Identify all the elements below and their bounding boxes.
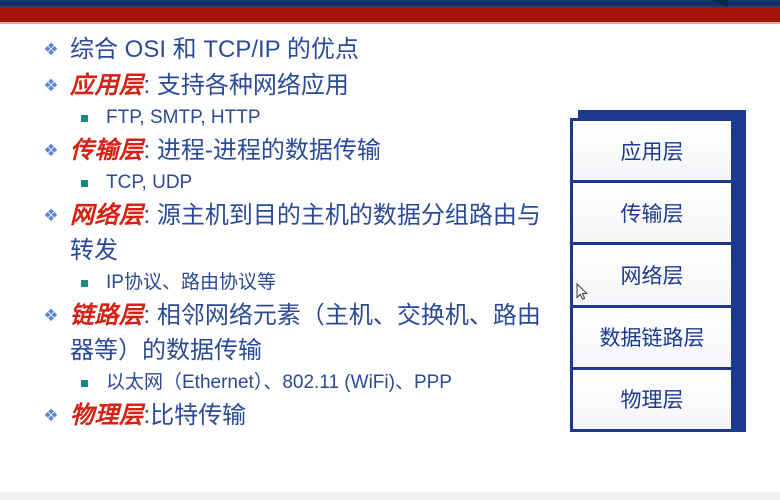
top-blue-band-highlight (0, 0, 780, 2)
top-band-notch (712, 0, 728, 7)
square-bullet-icon (81, 280, 88, 287)
stack-layer-application: 应用层 (573, 121, 731, 183)
slide-content: ❖综合 OSI 和 TCP/IP 的优点 ❖应用层: 支持各种网络应用 FTP,… (0, 26, 780, 500)
list-item: TCP, UDP (34, 169, 544, 197)
diamond-bullet-icon: ❖ (40, 298, 62, 333)
stack-layer-network: 网络层 (573, 245, 731, 307)
top-red-band (0, 7, 780, 22)
list-item-text: 以太网（Ethernet）、802.11 (WiFi)、PPP (106, 372, 452, 393)
list-item-text: : 支持各种网络应用 (144, 72, 349, 99)
list-item: 以太网（Ethernet）、802.11 (WiFi)、PPP (34, 369, 544, 397)
bottom-band (0, 492, 780, 500)
list-item-text: TCP, UDP (106, 172, 192, 193)
square-bullet-icon (81, 380, 88, 387)
list-item: ❖应用层: 支持各种网络应用 (34, 68, 544, 103)
layer-name: 应用层 (70, 72, 144, 99)
stack-layer-datalink: 数据链路层 (573, 308, 731, 370)
list-item: ❖链路层: 相邻网络元素（主机、交换机、路由器等）的数据传输 (34, 298, 544, 368)
list-item-text: IP协议、路由协议等 (106, 272, 276, 293)
list-item-text: 综合 OSI 和 TCP/IP 的优点 (70, 36, 359, 63)
list-item-text: :比特传输 (144, 402, 247, 429)
bullet-list: ❖综合 OSI 和 TCP/IP 的优点 ❖应用层: 支持各种网络应用 FTP,… (34, 32, 544, 434)
diamond-bullet-icon: ❖ (40, 398, 62, 433)
diamond-bullet-icon: ❖ (40, 32, 62, 67)
diamond-bullet-icon: ❖ (40, 68, 62, 103)
list-item: ❖物理层:比特传输 (34, 398, 544, 433)
stack-layer-label: 传输层 (621, 198, 684, 228)
list-item-text: : 进程-进程的数据传输 (144, 137, 381, 164)
stack-layer-label: 应用层 (621, 136, 684, 166)
diamond-bullet-icon: ❖ (40, 198, 62, 233)
list-item: IP协议、路由协议等 (34, 269, 544, 297)
layer-stack: 应用层 传输层 网络层 数据链路层 物理层 (570, 118, 734, 432)
stack-layer-label: 物理层 (621, 384, 684, 414)
list-item-text: FTP, SMTP, HTTP (106, 107, 261, 128)
diamond-bullet-icon: ❖ (40, 133, 62, 168)
square-bullet-icon (81, 115, 88, 122)
list-item: ❖综合 OSI 和 TCP/IP 的优点 (34, 32, 544, 67)
layer-name: 传输层 (70, 137, 144, 164)
layer-name: 网络层 (70, 202, 144, 229)
layer-name: 物理层 (70, 402, 144, 429)
top-red-band-edge (0, 22, 780, 24)
stack-layer-physical: 物理层 (573, 370, 731, 429)
stack-layer-transport: 传输层 (573, 183, 731, 245)
list-item: ❖网络层: 源主机到目的主机的数据分组路由与转发 (34, 198, 544, 268)
stack-layer-label: 网络层 (621, 260, 684, 290)
stack-layer-label: 数据链路层 (600, 322, 705, 352)
list-item: ❖传输层: 进程-进程的数据传输 (34, 133, 544, 168)
slide-canvas: ❖综合 OSI 和 TCP/IP 的优点 ❖应用层: 支持各种网络应用 FTP,… (0, 0, 780, 500)
layer-name: 链路层 (70, 302, 144, 329)
layer-stack-diagram: 应用层 传输层 网络层 数据链路层 物理层 (570, 110, 746, 440)
mouse-cursor-icon (576, 283, 590, 301)
square-bullet-icon (81, 180, 88, 187)
list-item: FTP, SMTP, HTTP (34, 104, 544, 132)
